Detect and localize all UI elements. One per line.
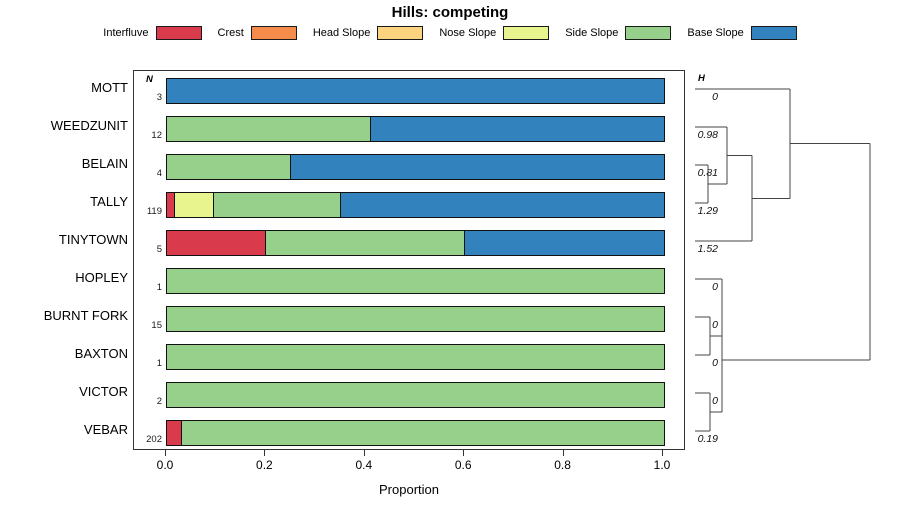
x-axis-tick — [165, 450, 166, 456]
bar-segment[interactable] — [167, 421, 182, 445]
bar-segment[interactable] — [167, 117, 371, 141]
bar-segment[interactable] — [214, 193, 341, 217]
bar-segment[interactable] — [167, 307, 664, 331]
legend-item[interactable]: Crest — [218, 26, 297, 40]
chart-row: 4 — [134, 147, 686, 185]
legend-item-label: Head Slope — [313, 27, 371, 39]
x-axis-tick-label: 0.2 — [256, 458, 273, 472]
bar-segment[interactable] — [167, 269, 664, 293]
legend-swatch — [377, 26, 423, 40]
bar-segment[interactable] — [167, 79, 664, 103]
bar-segment[interactable] — [465, 231, 664, 255]
n-value: 12 — [134, 130, 162, 141]
legend-swatch — [251, 26, 297, 40]
bar-segment[interactable] — [167, 231, 266, 255]
x-axis-tick — [463, 450, 464, 456]
y-axis-label: MOTT — [3, 80, 128, 95]
bar-segment[interactable] — [175, 193, 213, 217]
x-axis-tick-label: 0.0 — [157, 458, 174, 472]
y-axis-label: TALLY — [3, 194, 128, 209]
x-axis-tick — [264, 450, 265, 456]
bar-segment[interactable] — [182, 421, 664, 445]
stacked-bar[interactable] — [166, 116, 665, 142]
stacked-bar[interactable] — [166, 382, 665, 408]
chart-row: 2 — [134, 375, 686, 413]
x-axis-tick-label: 0.8 — [554, 458, 571, 472]
stacked-bar[interactable] — [166, 344, 665, 370]
x-axis-tick — [563, 450, 564, 456]
n-value: 4 — [134, 168, 162, 179]
x-axis-tick-label: 0.4 — [355, 458, 372, 472]
y-axis-label: VEBAR — [3, 422, 128, 437]
stacked-bar[interactable] — [166, 420, 665, 446]
stacked-bar[interactable] — [166, 192, 665, 218]
legend-swatch — [625, 26, 671, 40]
stacked-bar[interactable] — [166, 230, 665, 256]
stacked-bar[interactable] — [166, 154, 665, 180]
chart-row: 119 — [134, 185, 686, 223]
chart-row: 1 — [134, 261, 686, 299]
bar-segment[interactable] — [167, 155, 291, 179]
x-axis-tick-label: 1.0 — [654, 458, 671, 472]
x-axis-tick-label: 0.6 — [455, 458, 472, 472]
bar-segment[interactable] — [341, 193, 664, 217]
x-axis: 0.00.20.40.60.81.0 — [133, 450, 685, 480]
bar-segment[interactable] — [291, 155, 664, 179]
plot-panel: N3124119511512202 — [133, 70, 685, 450]
legend-item[interactable]: Base Slope — [687, 26, 796, 40]
y-axis-label: TINYTOWN — [3, 232, 128, 247]
bar-segment[interactable] — [167, 345, 664, 369]
bar-segment[interactable] — [167, 383, 664, 407]
dendrogram — [690, 70, 900, 450]
legend-item[interactable]: Side Slope — [565, 26, 671, 40]
legend-item-label: Crest — [218, 27, 244, 39]
n-value: 3 — [134, 92, 162, 103]
chart-row: 5 — [134, 223, 686, 261]
chart-row: 3 — [134, 71, 686, 109]
x-axis-title: Proportion — [133, 482, 685, 497]
n-value: 202 — [134, 434, 162, 445]
legend-swatch — [503, 26, 549, 40]
y-axis-label: HOPLEY — [3, 270, 128, 285]
y-axis-label: BAXTON — [3, 346, 128, 361]
n-value: 15 — [134, 320, 162, 331]
x-axis-tick — [662, 450, 663, 456]
stacked-bar[interactable] — [166, 306, 665, 332]
stacked-bar[interactable] — [166, 78, 665, 104]
chart-row: 15 — [134, 299, 686, 337]
bar-segment[interactable] — [371, 117, 664, 141]
legend-item[interactable]: Nose Slope — [439, 26, 549, 40]
legend-item[interactable]: Interfluve — [103, 26, 201, 40]
legend-item-label: Base Slope — [687, 27, 743, 39]
legend: InterfluveCrestHead SlopeNose SlopeSide … — [0, 26, 900, 40]
n-value: 2 — [134, 396, 162, 407]
n-value: 1 — [134, 282, 162, 293]
chart-row: 202 — [134, 413, 686, 451]
y-axis-label: BURNT FORK — [3, 308, 128, 323]
bar-segment[interactable] — [167, 193, 175, 217]
legend-swatch — [751, 26, 797, 40]
y-axis-label: WEEDZUNIT — [3, 118, 128, 133]
page-title: Hills: competing — [0, 4, 900, 21]
legend-item-label: Interfluve — [103, 27, 148, 39]
chart-row: 1 — [134, 337, 686, 375]
y-axis-labels: MOTTWEEDZUNITBELAINTALLYTINYTOWNHOPLEYBU… — [0, 70, 128, 450]
stacked-bar[interactable] — [166, 268, 665, 294]
n-value: 1 — [134, 358, 162, 369]
chart-root: Hills: competing InterfluveCrestHead Slo… — [0, 0, 900, 520]
n-value: 119 — [134, 206, 162, 217]
x-axis-tick — [364, 450, 365, 456]
legend-swatch — [156, 26, 202, 40]
bar-segment[interactable] — [266, 231, 465, 255]
y-axis-label: VICTOR — [3, 384, 128, 399]
y-axis-label: BELAIN — [3, 156, 128, 171]
n-value: 5 — [134, 244, 162, 255]
legend-item[interactable]: Head Slope — [313, 26, 424, 40]
chart-row: 12 — [134, 109, 686, 147]
legend-item-label: Side Slope — [565, 27, 618, 39]
legend-item-label: Nose Slope — [439, 27, 496, 39]
